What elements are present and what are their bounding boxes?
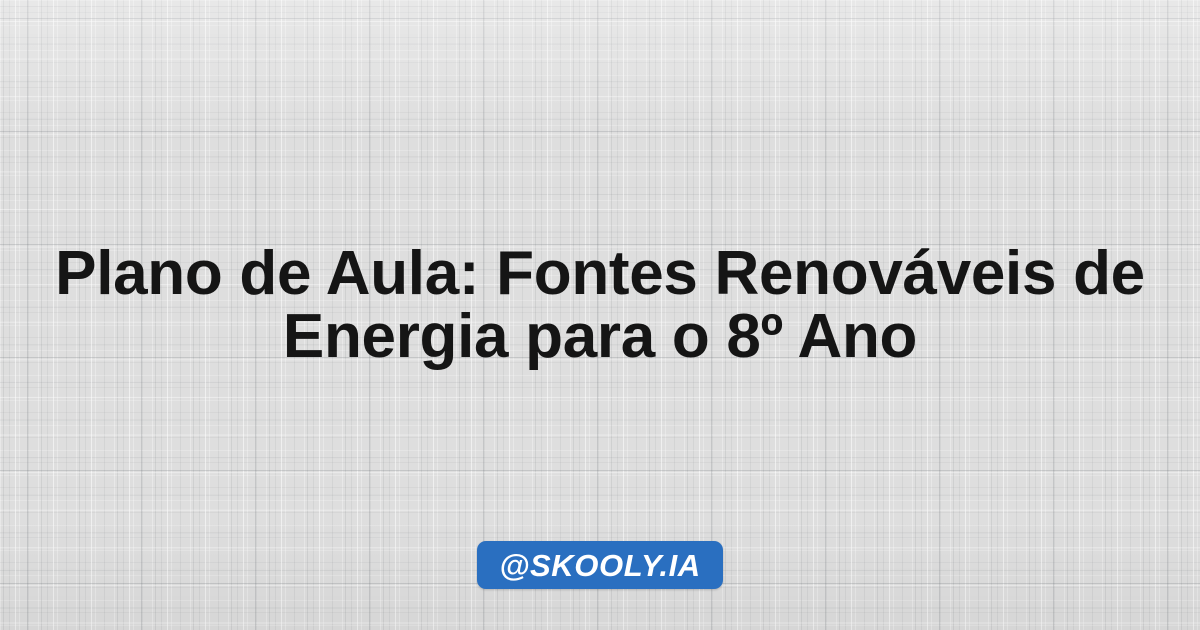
page-title: Plano de Aula: Fontes Renováveis de Ener… [0,242,1200,368]
brand-badge[interactable]: @SKOOLY.IA [477,541,723,589]
share-card: Plano de Aula: Fontes Renováveis de Ener… [0,0,1200,630]
page-title-line-1: Plano de Aula: Fontes Renováveis de [24,242,1176,305]
brand-badge-label: @SKOOLY.IA [499,550,701,581]
card-content: Plano de Aula: Fontes Renováveis de Ener… [0,0,1200,630]
brand-badge-row: @SKOOLY.IA [0,541,1200,589]
page-title-line-2: Energia para o 8º Ano [24,305,1176,368]
